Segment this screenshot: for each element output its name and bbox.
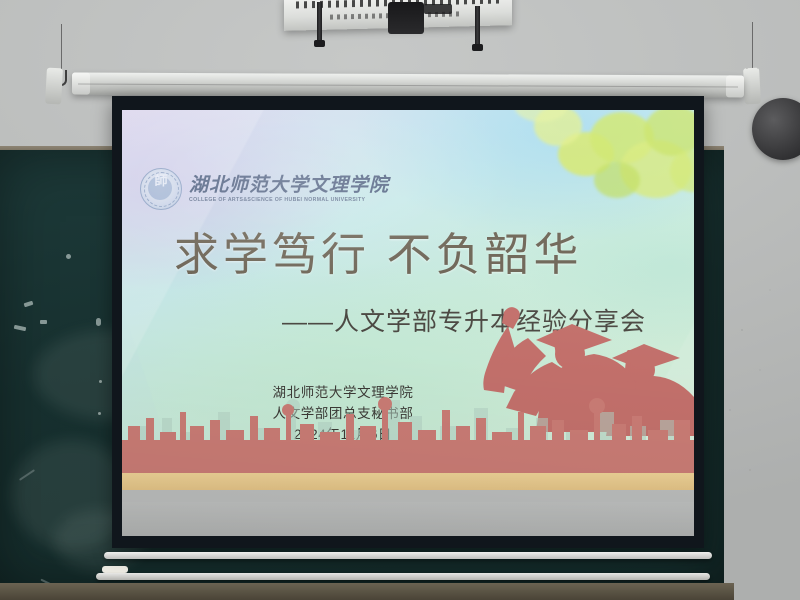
projection-screen[interactable]: 師 湖北师范大学文理学院 COLLEGE OF ARTS&SCIENCE OF … [112, 96, 704, 548]
logo-text-block: 湖北师范大学文理学院 COLLEGE OF ARTS&SCIENCE OF HU… [189, 175, 389, 204]
gold-accent-band [122, 473, 694, 490]
projection-screen-surface: 師 湖北师范大学文理学院 COLLEGE OF ARTS&SCIENCE OF … [122, 110, 694, 536]
screen-roller-end-cap [743, 68, 761, 105]
roller-seam [78, 84, 738, 88]
screen-roller-end-cap [45, 68, 63, 105]
leaf-cluster [594, 162, 640, 198]
seal-glyph: 師 [141, 175, 181, 188]
classroom-scene: 師 湖北师范大学文理学院 COLLEGE OF ARTS&SCIENCE OF … [0, 0, 800, 600]
chalk-mark [98, 412, 101, 415]
screen-unused-area [122, 502, 694, 536]
ceiling-mounted-projector [284, 0, 512, 38]
projector-mount-rod [317, 2, 322, 42]
screen-hanging-wire [61, 24, 62, 74]
tree-foliage [474, 110, 694, 238]
city-skyline-band [122, 382, 694, 474]
projector-lens-icon [388, 2, 424, 34]
blackboard-bottom-rail [0, 583, 734, 600]
slide-bottom-edge [122, 490, 694, 502]
chalk-mark [24, 301, 34, 308]
logo-chinese-name: 湖北师范大学文理学院 [189, 175, 389, 196]
screen-hanging-wire [752, 22, 753, 72]
logo-english-name: COLLEGE OF ARTS&SCIENCE OF HUBEI NORMAL … [189, 196, 389, 204]
chalk-mark [99, 380, 102, 383]
projector-lens-shroud [424, 4, 452, 14]
chalk-mark [96, 318, 101, 326]
screen-bottom-weight-bar[interactable] [104, 552, 712, 559]
chalk-ledge [96, 573, 710, 580]
university-logo: 師 湖北师范大学文理学院 COLLEGE OF ARTS&SCIENCE OF … [140, 168, 389, 210]
projector-mount-foot [472, 44, 483, 51]
chalk-mark [14, 325, 27, 331]
university-seal-icon: 師 [140, 168, 182, 210]
projector-mount-foot [314, 40, 325, 47]
chalk-stick [102, 566, 128, 573]
city-skyline-silhouette [122, 382, 694, 474]
presentation-slide: 師 湖北师范大学文理学院 COLLEGE OF ARTS&SCIENCE OF … [122, 110, 694, 502]
projector-mount-rod [475, 6, 480, 46]
slide-title: 求学笃行 不负韶华 [174, 228, 664, 282]
screen-roller-housing[interactable] [72, 73, 744, 98]
chalk-mark [66, 254, 71, 259]
chalk-mark [40, 320, 47, 324]
